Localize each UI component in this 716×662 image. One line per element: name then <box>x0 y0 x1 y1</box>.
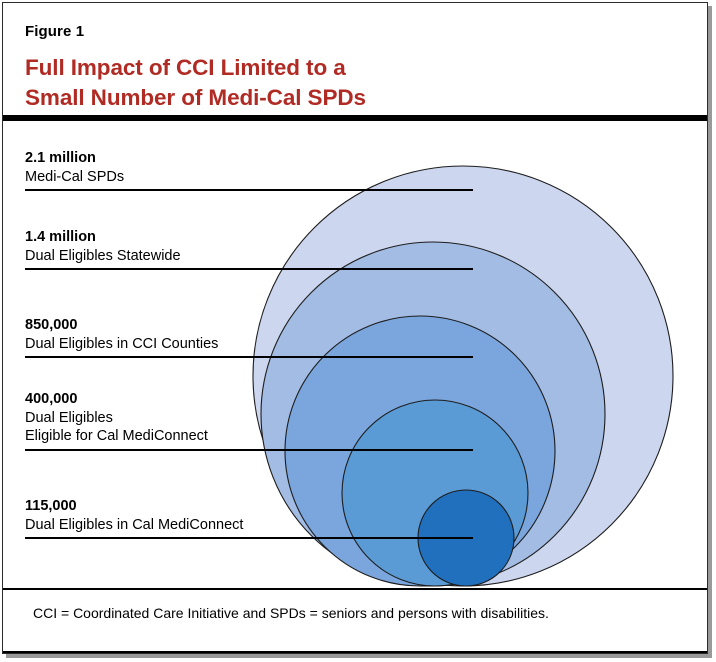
figure-root: Figure 1 Full Impact of CCI Limited to a… <box>0 0 716 662</box>
label-value-2: 1.4 million <box>25 228 181 247</box>
label-value-5: 115,000 <box>25 497 243 516</box>
label-medi-cal-spds: 2.1 million Medi-Cal SPDs <box>25 149 124 186</box>
label-desc-2: Dual Eligibles Statewide <box>25 247 181 266</box>
figure-title: Full Impact of CCI Limited to a Small Nu… <box>25 53 665 113</box>
label-desc-3: Dual Eligibles in CCI Counties <box>25 335 218 354</box>
figure-title-line-1: Full Impact of CCI Limited to a <box>25 53 665 83</box>
figure-header: Figure 1 Full Impact of CCI Limited to a… <box>3 3 707 115</box>
label-dual-eligibles-cci-counties: 850,000 Dual Eligibles in CCI Counties <box>25 316 218 353</box>
figure-title-line-2: Small Number of Medi-Cal SPDs <box>25 83 665 113</box>
label-desc-5: Dual Eligibles in Cal MediConnect <box>25 516 243 535</box>
figure-frame: Figure 1 Full Impact of CCI Limited to a… <box>2 2 708 654</box>
footnote-divider-rule <box>3 588 707 590</box>
figure-number: Figure 1 <box>25 23 84 40</box>
label-value-3: 850,000 <box>25 316 218 335</box>
label-dual-eligibles-in-cal-mediconnect: 115,000 Dual Eligibles in Cal MediConnec… <box>25 497 243 534</box>
label-value-1: 2.1 million <box>25 149 124 168</box>
figure-bottom-rule <box>3 651 707 653</box>
chart-body: 2.1 million Medi-Cal SPDs 1.4 million Du… <box>3 121 707 588</box>
footnote-text: CCI = Coordinated Care Initiative and SP… <box>33 605 549 621</box>
label-value-4: 400,000 <box>25 390 208 409</box>
label-dual-eligibles-statewide: 1.4 million Dual Eligibles Statewide <box>25 228 181 265</box>
label-dual-eligibles-eligible-cal-mediconnect: 400,000 Dual Eligibles Eligible for Cal … <box>25 390 208 446</box>
label-desc-4a: Dual Eligibles <box>25 409 208 428</box>
label-desc-4b: Eligible for Cal MediConnect <box>25 427 208 446</box>
label-desc-1: Medi-Cal SPDs <box>25 168 124 187</box>
